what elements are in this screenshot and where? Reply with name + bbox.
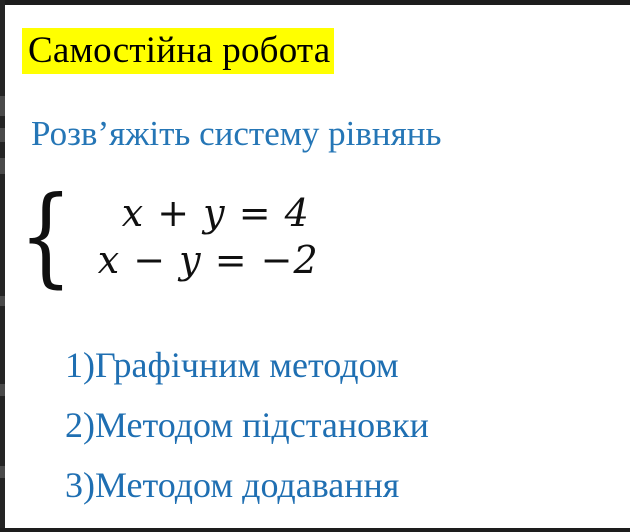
list-item: 3) Методом додавання — [65, 455, 429, 515]
scan-edge-bottom — [0, 528, 630, 532]
task-instruction: Розв’яжіть систему рівнянь — [31, 113, 441, 155]
equation-1: x + y = 4 — [122, 190, 319, 236]
method-list: 1) Графічним методом 2) Методом підстано… — [65, 335, 429, 515]
equation-system: { x + y = 4 x − y = −2 — [19, 187, 319, 286]
page-title: Самостійна робота — [22, 27, 334, 76]
equation-lines: x + y = 4 x − y = −2 — [82, 190, 319, 283]
list-item-label: Методом підстановки — [95, 395, 429, 455]
list-item: 2) Методом підстановки — [65, 395, 429, 455]
list-item-label: Методом додавання — [95, 455, 399, 515]
list-item-number: 3) — [65, 455, 95, 515]
equation-2: x − y = −2 — [98, 237, 319, 283]
list-item-number: 1) — [65, 335, 95, 395]
slide-canvas: Самостійна робота Розв’яжіть систему рів… — [5, 5, 630, 528]
left-brace-icon: { — [19, 187, 73, 286]
page-title-text: Самостійна робота — [22, 28, 334, 74]
list-item: 1) Графічним методом — [65, 335, 429, 395]
list-item-label: Графічним методом — [95, 335, 399, 395]
list-item-number: 2) — [65, 395, 95, 455]
